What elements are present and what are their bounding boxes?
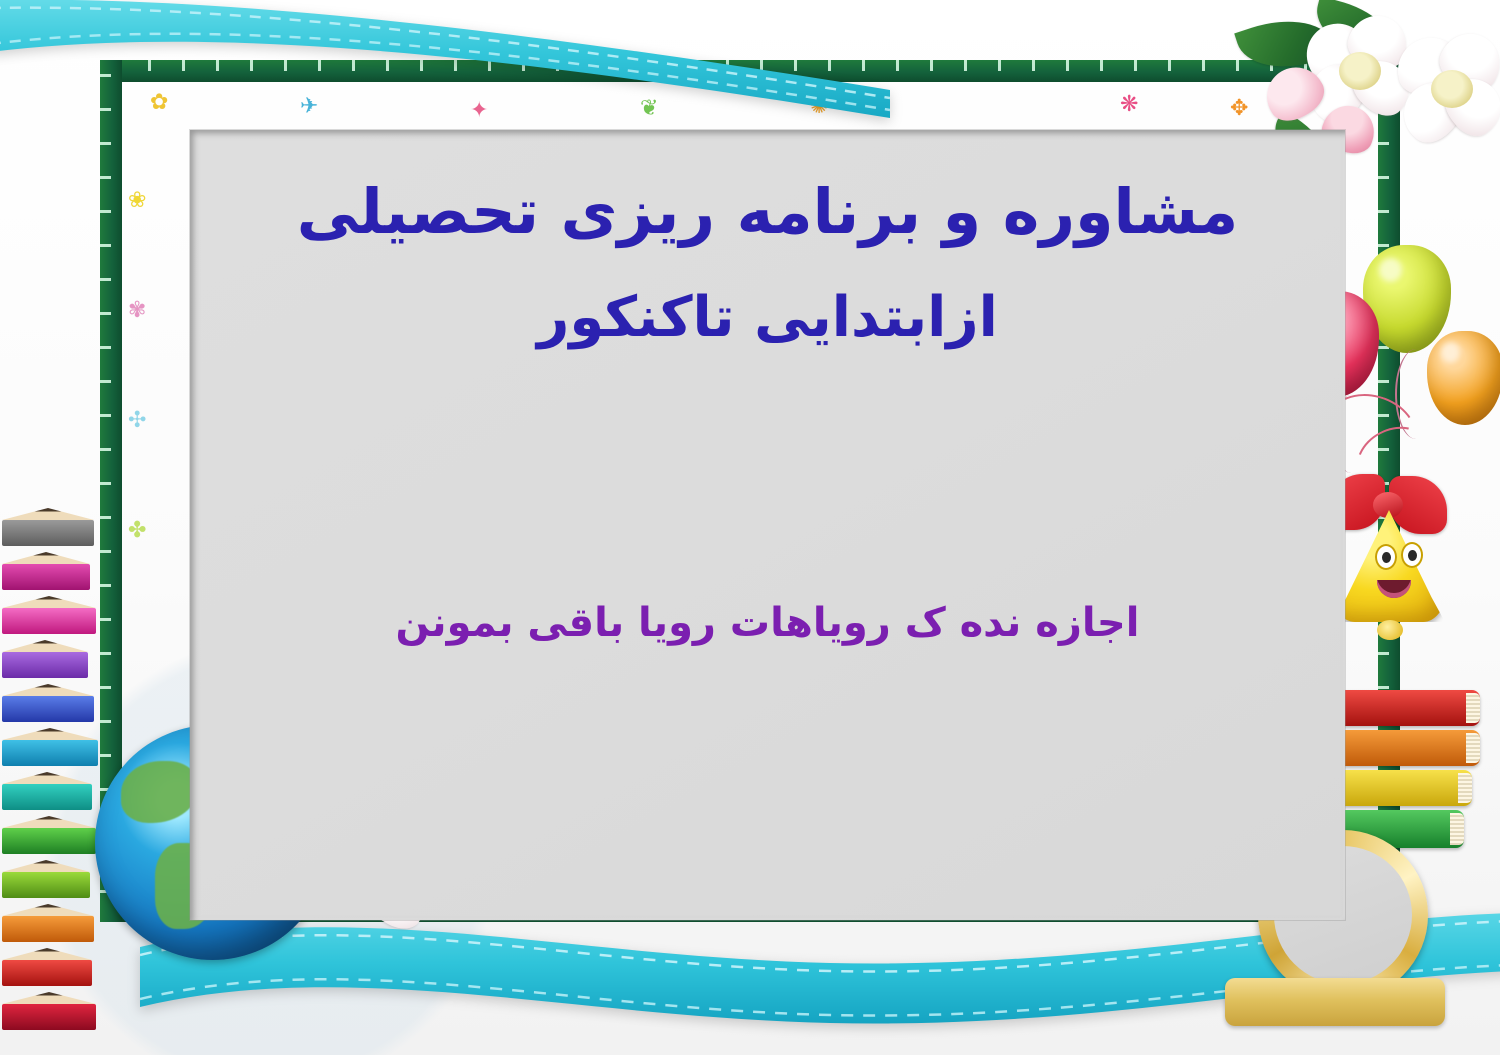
ruler-tick bbox=[1378, 210, 1389, 213]
top-ribbon bbox=[0, 0, 890, 124]
title-block: مشاوره و برنامه ریزی تحصیلی ازابتدایی تا… bbox=[190, 170, 1345, 360]
ruler-tick bbox=[1378, 686, 1389, 689]
ruler-tick bbox=[100, 278, 111, 281]
ruler-tick bbox=[100, 482, 111, 485]
gold-ribbon-scroll bbox=[1225, 978, 1445, 1026]
ruler-tick bbox=[1168, 60, 1171, 71]
pencil-crimson bbox=[2, 1004, 96, 1030]
pencil-green bbox=[2, 828, 96, 854]
ruler-tick bbox=[100, 618, 111, 621]
pencil-cyan bbox=[2, 740, 98, 766]
ruler-tick bbox=[1236, 60, 1239, 71]
ruler-tick bbox=[100, 176, 111, 179]
book-pages bbox=[1458, 773, 1472, 803]
book-pages bbox=[1466, 693, 1480, 723]
ruler-tick bbox=[100, 380, 111, 383]
pencil-orange bbox=[2, 916, 94, 942]
colored-pencils-column bbox=[2, 500, 98, 1055]
ruler-tick bbox=[100, 414, 111, 417]
ruler-tick bbox=[100, 346, 111, 349]
ruler-tick bbox=[100, 516, 111, 519]
ruler-tick bbox=[100, 550, 111, 553]
bell-pupil-right bbox=[1408, 550, 1417, 561]
blossom-center bbox=[1431, 70, 1473, 108]
book-pages bbox=[1466, 733, 1480, 763]
content-panel: مشاوره و برنامه ریزی تحصیلی ازابتدایی تا… bbox=[190, 130, 1345, 920]
ruler-tick bbox=[100, 448, 111, 451]
page-title-line1: مشاوره و برنامه ریزی تحصیلی bbox=[190, 170, 1345, 254]
balloon-orange bbox=[1427, 331, 1500, 425]
pencil-blue bbox=[2, 696, 94, 722]
ruler-tick bbox=[1202, 60, 1205, 71]
ruler-tick bbox=[100, 312, 111, 315]
ruler-tick bbox=[1066, 60, 1069, 71]
ruler-tick bbox=[1032, 60, 1035, 71]
blossom-center bbox=[1339, 52, 1381, 90]
ruler-tick bbox=[100, 210, 111, 213]
ruler-tick bbox=[896, 60, 899, 71]
pencil-gray bbox=[2, 520, 94, 546]
pencil-teal bbox=[2, 784, 92, 810]
subtitle-motivational-quote: اجازه نده ک رویاهات رویا باقی بمونن bbox=[190, 600, 1345, 646]
pencil-lime bbox=[2, 872, 90, 898]
ruler-tick bbox=[100, 754, 111, 757]
pencil-violet bbox=[2, 652, 88, 678]
globe-landmass bbox=[121, 761, 199, 823]
ruler-tick bbox=[100, 720, 111, 723]
bell-clapper bbox=[1377, 620, 1403, 640]
ruler-tick bbox=[100, 652, 111, 655]
ruler-tick bbox=[100, 244, 111, 247]
book-pages bbox=[1450, 813, 1464, 845]
ruler-tick bbox=[100, 584, 111, 587]
ruler-tick bbox=[998, 60, 1001, 71]
ruler-tick bbox=[100, 686, 111, 689]
ruler-tick bbox=[964, 60, 967, 71]
page-title-line2: ازابتدایی تاکنکور bbox=[190, 276, 1345, 360]
ruler-tick bbox=[100, 142, 111, 145]
ruler-tick bbox=[930, 60, 933, 71]
ruler-tick bbox=[1134, 60, 1137, 71]
pencil-pink bbox=[2, 608, 96, 634]
ruler-tick bbox=[1100, 60, 1103, 71]
pencil-magenta bbox=[2, 564, 90, 590]
pencil-red bbox=[2, 960, 92, 986]
bell-pupil-left bbox=[1382, 552, 1391, 563]
poster-canvas: ✿ ✈ ✦ ❦ ✺ ❋ ✥ ❀ ✾ ✣ ✤ ✽ ❁ ✺ ❋ bbox=[0, 0, 1500, 1055]
